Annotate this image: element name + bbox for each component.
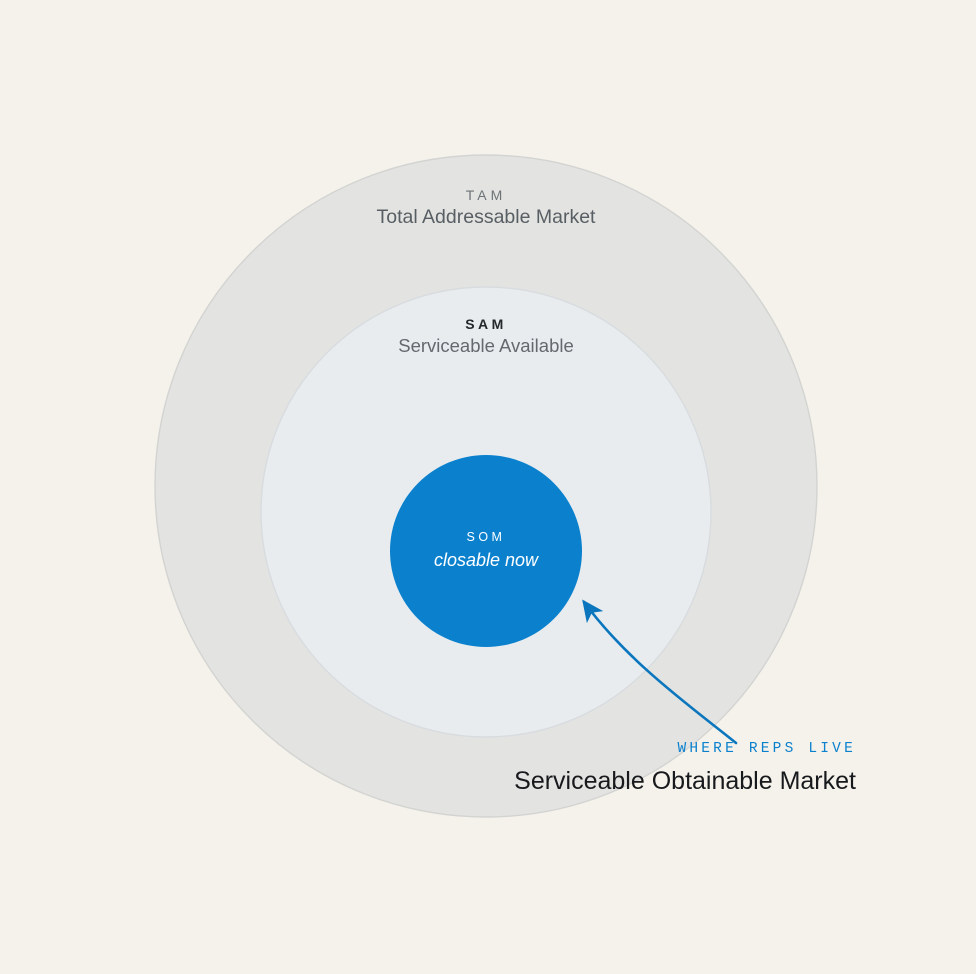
som-circle bbox=[390, 455, 582, 647]
tam-sam-som-diagram: TAM Total Addressable Market SAM Service… bbox=[0, 0, 976, 974]
diagram-canvas bbox=[0, 0, 976, 974]
